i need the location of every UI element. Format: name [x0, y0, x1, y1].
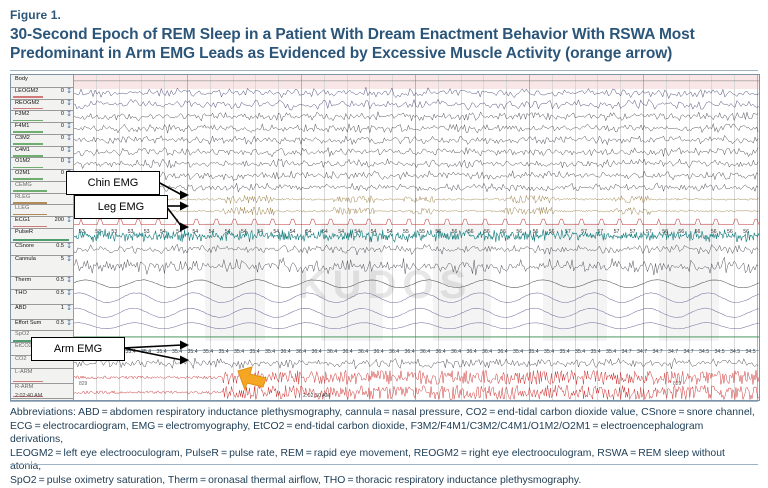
channel-name: REOGM2 — [15, 100, 39, 106]
channel-label-spo2[interactable]: SpO2 — [13, 331, 73, 337]
abbreviations-footer: Abbreviations: ABD = abdomen respiratory… — [10, 406, 758, 488]
header-divider — [10, 70, 758, 71]
channel-label-therm[interactable]: Therm0.5↧ — [13, 277, 73, 283]
channel-color-bar — [13, 96, 43, 98]
channel-name: Effort Sum — [15, 320, 41, 326]
channel-label-rleg[interactable]: RLEG — [13, 194, 73, 200]
channel-color-bar — [13, 226, 47, 228]
channel-label-o2m1[interactable]: O2M10↧ — [13, 170, 73, 176]
footer-divider-top — [10, 401, 758, 402]
orange-arrow-icon — [236, 365, 276, 393]
channel-label-pulser[interactable]: PulseR — [13, 229, 73, 235]
epoch-number: 829 — [673, 381, 681, 387]
channel-label-ecg1[interactable]: ECG1200↧ — [13, 217, 73, 223]
channel-name: CO2 — [15, 356, 27, 362]
channel-name: RLEG — [15, 194, 30, 200]
channel-name: L-ARM — [15, 369, 32, 375]
channel-name: O2M1 — [15, 170, 30, 176]
channel-name: F4M1 — [15, 123, 29, 129]
scale-down-arrow-icon[interactable]: ↧ — [66, 242, 72, 250]
channel-color-bar — [13, 120, 43, 122]
channel-color-bar — [13, 202, 47, 204]
channel-scale-value: 0.5 — [56, 290, 64, 296]
channel-label-effort-sum[interactable]: Effort Sum0.5↧ — [13, 320, 73, 326]
channel-label-c4m1[interactable]: C4M10↧ — [13, 147, 73, 153]
channel-scale-value: 0.5 — [56, 277, 64, 283]
channel-name: O1M2 — [15, 158, 30, 164]
channel-label-c3m2[interactable]: C3M20↧ — [13, 135, 73, 141]
channel-scale-value: 5 — [61, 256, 64, 262]
scale-down-arrow-icon[interactable]: ↧ — [66, 87, 72, 95]
scale-down-arrow-icon[interactable]: ↧ — [66, 319, 72, 327]
channel-color-bar — [13, 155, 43, 157]
scale-down-arrow-icon[interactable]: ↧ — [66, 289, 72, 297]
channel-scale-value: 0 — [61, 147, 64, 153]
epoch-timestamp: 2:02:40 AM — [15, 393, 42, 399]
scale-down-arrow-icon[interactable]: ↧ — [66, 146, 72, 154]
scale-down-arrow-icon[interactable]: ↧ — [66, 255, 72, 263]
scale-down-arrow-icon[interactable]: ↧ — [66, 134, 72, 142]
footer-line-2: ECG = electrocardiogram, EMG = electromy… — [10, 420, 758, 447]
epoch-timestamp: 2:02:50 AM — [303, 393, 330, 399]
callout-leg-emg: Leg EMG — [74, 195, 168, 219]
epoch-number: 829 — [79, 381, 87, 387]
channel-label-r-arm[interactable]: R-ARM — [13, 384, 73, 390]
waveform-traces — [73, 75, 759, 400]
channel-label-l-arm[interactable]: L-ARM — [13, 369, 73, 375]
channel-label-leogm2[interactable]: LEOGM20↧ — [13, 88, 73, 94]
channel-color-bar — [13, 214, 47, 216]
callout-chin-emg: Chin EMG — [66, 171, 160, 195]
channel-name: C3M2 — [15, 135, 30, 141]
channel-scale-value: 0 — [61, 158, 64, 164]
channel-scale-value: 0 — [61, 170, 64, 176]
channel-label-tho[interactable]: THO0.5↧ — [13, 290, 73, 296]
footer-divider-bottom — [10, 464, 758, 465]
channel-scale-value: 0 — [61, 88, 64, 94]
channel-name: Cannula — [15, 256, 36, 262]
channel-label-o1m2[interactable]: O1M20↧ — [13, 158, 73, 164]
footer-line-1: Abbreviations: ABD = abdomen respiratory… — [10, 406, 758, 420]
channel-label-reogm2[interactable]: REOGM20↧ — [13, 100, 73, 106]
trace-area[interactable]: 5353535353545454545454545454545454545454… — [73, 75, 759, 400]
channel-name: CEMG — [15, 182, 32, 188]
channel-color-bar — [13, 167, 43, 169]
scale-down-arrow-icon[interactable]: ↧ — [66, 122, 72, 130]
channel-name: C4M1 — [15, 147, 30, 153]
channel-label-cannula[interactable]: Cannula5↧ — [13, 256, 73, 262]
channel-color-bar — [13, 239, 69, 241]
channel-name: Body — [15, 76, 28, 82]
channel-label-f4m1[interactable]: F4M10↧ — [13, 123, 73, 129]
channel-name: PulseR — [15, 229, 33, 235]
scale-down-arrow-icon[interactable]: ↧ — [66, 216, 72, 224]
footer-line-4: SpO2 = pulse oximetry saturation, Therm … — [10, 474, 758, 488]
callout-arm-emg: Arm EMG — [31, 337, 125, 361]
channel-color-bar — [13, 143, 43, 145]
channel-label-csnore[interactable]: CSnore0.5↧ — [13, 243, 73, 249]
channel-scale-value: 0 — [61, 100, 64, 106]
channel-label-body[interactable]: Body — [13, 76, 73, 82]
channel-color-bar — [13, 381, 43, 383]
channel-name: THO — [15, 290, 27, 296]
channel-name: R-ARM — [15, 384, 33, 390]
scale-down-arrow-icon[interactable]: ↧ — [66, 110, 72, 118]
channel-scale-value: 1 — [61, 305, 64, 311]
channel-scale-value: 0 — [61, 135, 64, 141]
channel-name: SpO2 — [15, 331, 29, 337]
footer-line-3: LEOGM2 = left eye electrooculogram, Puls… — [10, 447, 758, 474]
channel-label-lleg[interactable]: LLEG — [13, 205, 73, 211]
channel-name: ABD — [15, 305, 27, 311]
channel-name: ECG1 — [15, 217, 30, 223]
channel-color-bar — [13, 108, 43, 110]
channel-scale-value: 0 — [61, 123, 64, 129]
channel-scale-value: 0.5 — [56, 243, 64, 249]
channel-name: F3M2 — [15, 111, 29, 117]
channel-scale-value: 0 — [61, 111, 64, 117]
channel-label-cemg[interactable]: CEMG — [13, 182, 73, 188]
figure-label: Figure 1. — [10, 8, 61, 22]
channel-label-f3m2[interactable]: F3M20↧ — [13, 111, 73, 117]
figure-page: Figure 1. 30-Second Epoch of REM Sleep i… — [0, 0, 768, 475]
channel-color-bar — [13, 131, 43, 133]
channel-scale-value: 200 — [55, 217, 64, 223]
channel-name: Therm — [15, 277, 31, 283]
scale-down-arrow-icon[interactable]: ↧ — [66, 304, 72, 312]
channel-name: CSnore — [15, 243, 34, 249]
scale-down-arrow-icon[interactable]: ↧ — [66, 99, 72, 107]
channel-name: EtCO2 — [15, 343, 32, 349]
channel-color-bar — [13, 190, 47, 192]
channel-name: LLEG — [15, 205, 29, 211]
scale-down-arrow-icon[interactable]: ↧ — [66, 157, 72, 165]
channel-color-bar — [13, 178, 43, 180]
channel-label-abd[interactable]: ABD1↧ — [13, 305, 73, 311]
channel-scale-value: 0.5 — [56, 320, 64, 326]
polysomnography-panel[interactable]: 5353535353545454545454545454545454545454… — [10, 74, 760, 401]
scale-down-arrow-icon[interactable]: ↧ — [66, 276, 72, 284]
channel-name: LEOGM2 — [15, 88, 38, 94]
figure-title: 30-Second Epoch of REM Sleep in a Patien… — [10, 25, 758, 63]
